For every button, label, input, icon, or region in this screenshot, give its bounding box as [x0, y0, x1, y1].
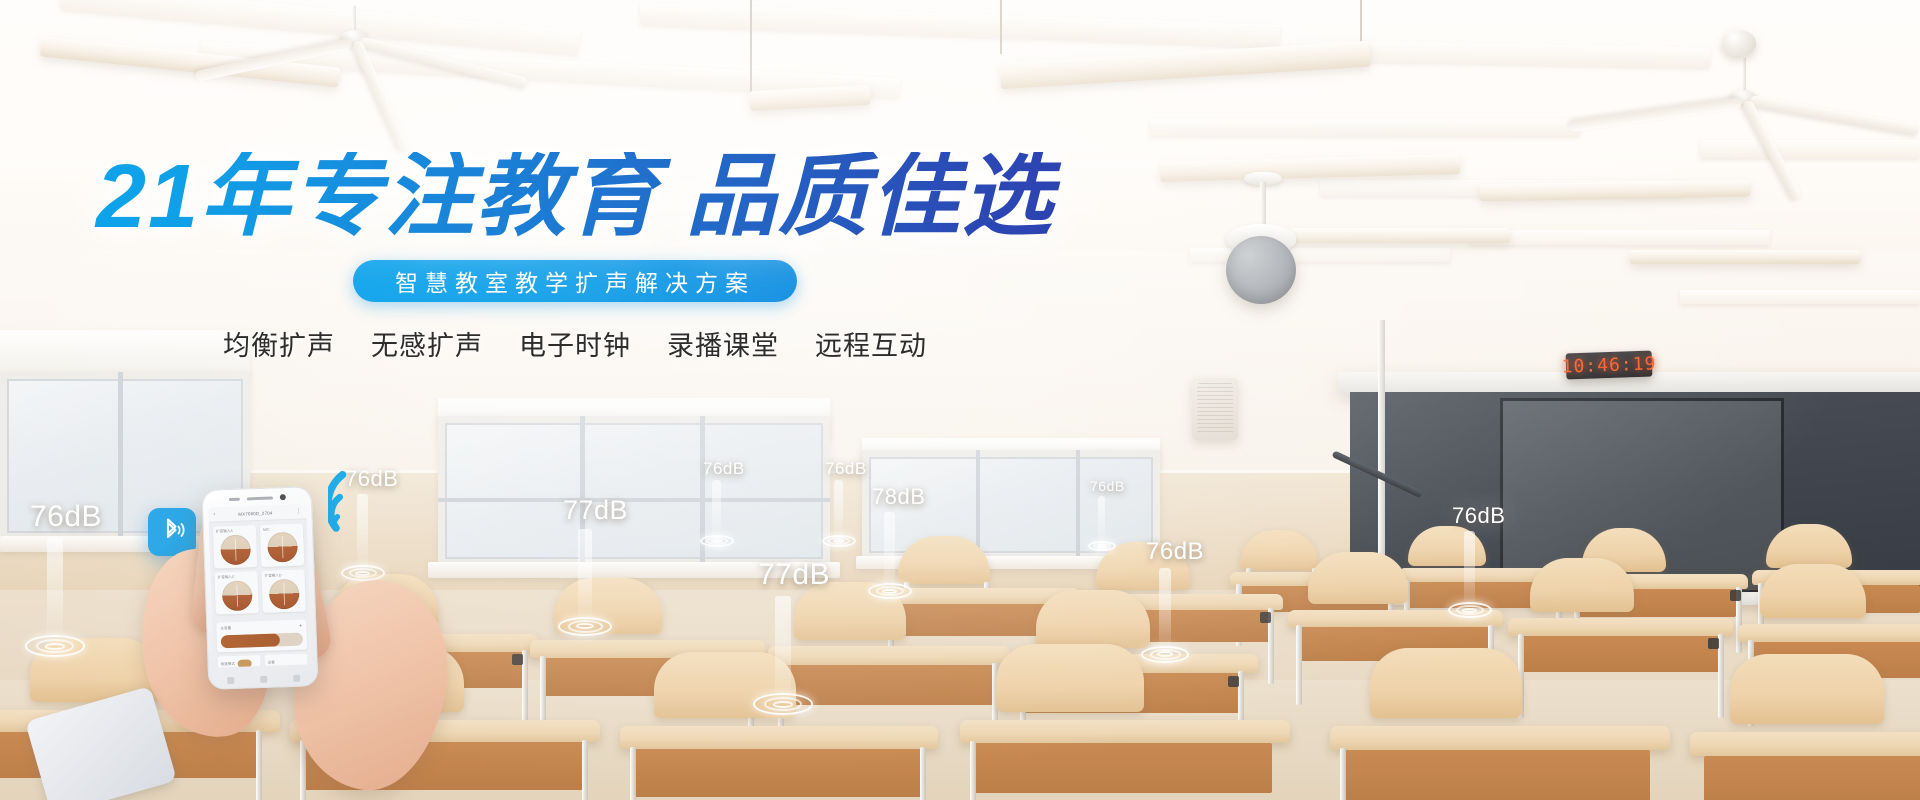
settings-button[interactable]: 设置: [264, 653, 308, 667]
sound-ripple-ring: [833, 539, 845, 543]
more-vertical-icon[interactable]: ⋮: [295, 509, 301, 515]
sound-ripple-ring: [882, 589, 897, 594]
fan-drop-rod: [352, 6, 356, 32]
sound-ripple-ring: [773, 701, 793, 708]
slider-header: 主音量 +: [220, 624, 302, 633]
light-rod: [750, 0, 752, 92]
app-title: MX7080D_2704: [238, 510, 272, 516]
sound-beam: [884, 512, 895, 591]
phone-nav-bar: [208, 674, 318, 685]
sound-beam: [775, 596, 791, 704]
knob-card[interactable]: 扩音输入A: [213, 525, 257, 568]
page-title: 21年专注教育品质佳选: [0, 152, 1150, 242]
nav-back-key[interactable]: [227, 677, 234, 684]
shirt-cuff: [25, 686, 177, 800]
digital-clock: 10:46:19: [1566, 351, 1653, 380]
master-volume-card[interactable]: 主音量 +: [216, 619, 307, 652]
ceiling-panel: [1150, 118, 1580, 136]
app-button-row: 场景模式 设置: [213, 653, 311, 667]
sound-ripple-ring: [1157, 651, 1173, 657]
window-mullion: [1076, 450, 1080, 560]
sound-ripple-ring: [1097, 544, 1107, 548]
db-value-label: 76dB: [1146, 538, 1204, 566]
pendant-light: [1630, 250, 1860, 264]
feature-item: 无感扩声: [371, 324, 483, 363]
headline-right: 品质佳选: [686, 147, 1054, 247]
knob-label: 扩音输入A: [216, 528, 253, 534]
pendant-light: [1290, 228, 1510, 243]
volume-knob[interactable]: [268, 579, 299, 610]
nav-home-key[interactable]: [260, 676, 267, 683]
nav-recents-key[interactable]: [293, 675, 300, 682]
db-value-label: 76dB: [703, 459, 745, 479]
feature-list: 均衡扩声无感扩声电子时钟录播课堂远程互动: [0, 324, 1150, 363]
wall-speaker: [1192, 378, 1238, 440]
knob-card[interactable]: 扩音输入C: [214, 571, 258, 614]
board-track-pole: [1378, 320, 1385, 590]
phone-camera-dot: [228, 497, 239, 500]
db-value-label: 76dB: [825, 459, 867, 479]
phone-front-camera: [279, 494, 285, 500]
volume-knob[interactable]: [267, 532, 298, 563]
sound-beam: [834, 480, 843, 541]
volume-slider-fill: [221, 633, 280, 648]
fan-drop-rod: [1742, 58, 1746, 92]
phone-screen[interactable]: ‹ MX7080D_2704 ⋮ 扩音输入A MIC 扩音输入C: [208, 504, 312, 667]
scene-mode-chip: [238, 659, 252, 667]
scene-mode-label: 场景模式: [221, 661, 236, 666]
headline-left: 21年专注教育: [96, 147, 660, 247]
chevron-left-icon[interactable]: ‹: [213, 512, 215, 518]
window: [438, 416, 830, 566]
knob-label: 扩音输入C: [218, 574, 255, 580]
feature-item: 录播课堂: [667, 324, 779, 363]
ceiling-panel: [1470, 230, 1770, 245]
knob-label: MIC: [263, 527, 300, 532]
solution-badge: 智慧教室教学扩声解决方案: [353, 260, 797, 302]
volume-knob[interactable]: [220, 534, 251, 565]
speaker-drop-rod: [1260, 182, 1266, 230]
sound-beam: [1098, 496, 1105, 546]
plus-icon[interactable]: +: [299, 624, 303, 630]
pendant-speaker: [1226, 236, 1296, 304]
feature-item: 均衡扩声: [223, 324, 335, 363]
knob-card[interactable]: MIC: [260, 523, 304, 566]
db-value-label: 77dB: [563, 495, 628, 526]
db-value-label: 76dB: [1452, 503, 1505, 529]
db-value-label: 76dB: [1090, 478, 1125, 494]
clock-time: 10:46:19: [1561, 353, 1656, 377]
banner-stage: 10:46:19: [0, 0, 1920, 800]
smartphone[interactable]: ‹ MX7080D_2704 ⋮ 扩音输入A MIC 扩音输入C: [202, 486, 319, 690]
settings-label: 设置: [268, 660, 275, 665]
hero-block: 21年专注教育品质佳选 智慧教室教学扩声解决方案 均衡扩声无感扩声电子时钟录播课…: [0, 152, 1150, 363]
sound-ripple-ring: [576, 623, 594, 629]
sound-ripple-ring: [1462, 608, 1477, 613]
knob-label: 扩音输入D: [265, 573, 302, 579]
ceiling-panel: [1700, 140, 1920, 158]
ceiling-panel: [1680, 290, 1920, 304]
db-value-label: 78dB: [872, 484, 925, 510]
sound-beam: [578, 529, 592, 626]
feature-item: 电子时钟: [519, 324, 631, 363]
phone-earpiece-row: [202, 493, 312, 503]
sound-beam: [1464, 531, 1475, 610]
volume-slider[interactable]: [221, 633, 303, 649]
sound-ripple-ring: [711, 539, 723, 543]
feature-item: 远程互动: [815, 324, 927, 363]
volume-knob[interactable]: [221, 580, 252, 611]
knob-grid: 扩音输入A MIC 扩音输入C 扩音输入D: [209, 519, 310, 618]
scene-mode-button[interactable]: 场景模式: [217, 655, 261, 668]
sound-beam: [1159, 568, 1171, 654]
light-rod: [1000, 0, 1002, 54]
window-mullion: [438, 498, 830, 502]
ceiling-dome-sensor: [1722, 30, 1756, 56]
window-mullion: [976, 450, 980, 560]
sound-beam: [712, 480, 721, 541]
slider-label: 主音量: [220, 626, 231, 631]
db-value-label: 77dB: [758, 558, 830, 592]
knob-card[interactable]: 扩音输入D: [261, 569, 305, 612]
phone-earpiece: [246, 496, 272, 500]
